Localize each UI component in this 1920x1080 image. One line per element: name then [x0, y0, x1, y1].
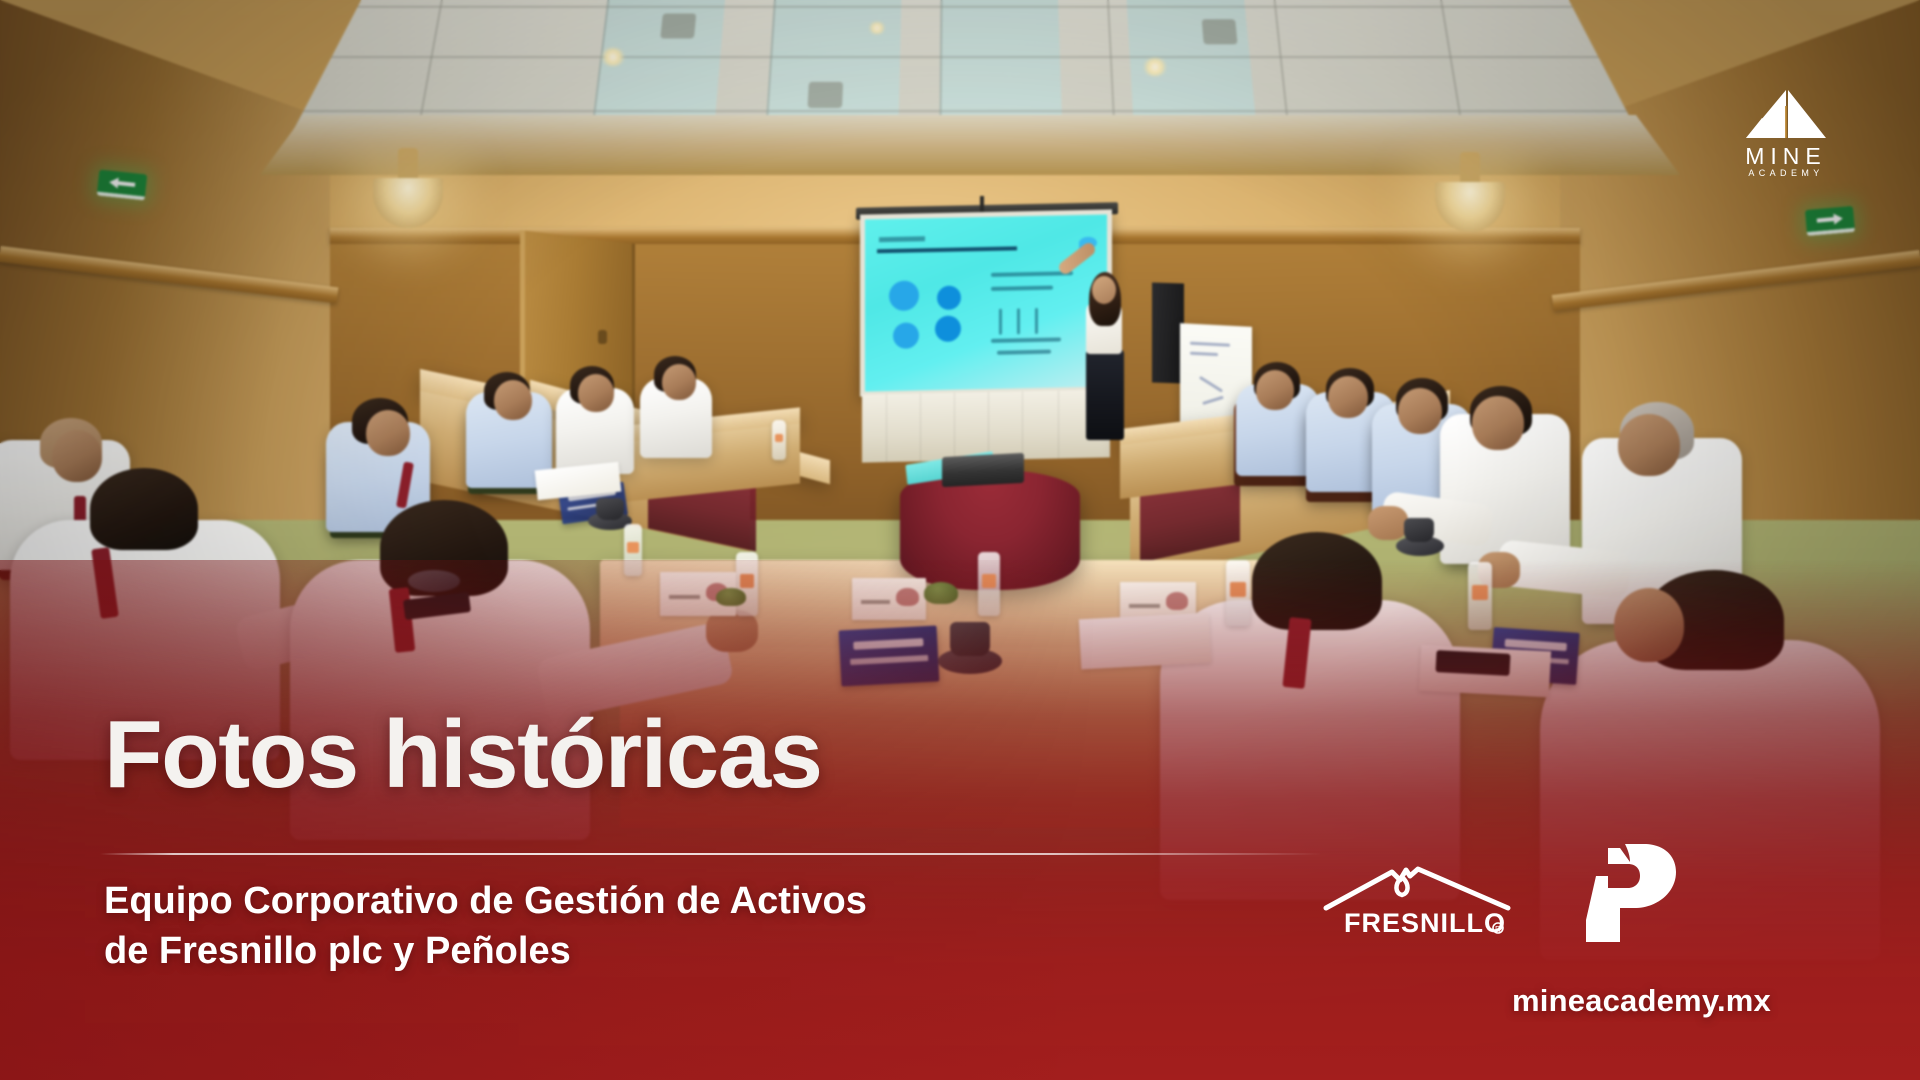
- projection-screen: [860, 209, 1112, 396]
- exit-sign-right: [1805, 206, 1855, 236]
- red-left-shade: [0, 560, 1100, 1080]
- presenter-head: [1092, 276, 1116, 304]
- door-handle: [598, 330, 607, 344]
- exit-arrow-left-icon: [107, 175, 138, 191]
- downlight-right: [1142, 58, 1168, 76]
- coffee-cup-right: [1404, 518, 1434, 542]
- page-subtitle: Equipo Corporativo de Gestión de Activos…: [104, 876, 867, 976]
- mine-academy-logo: MINE ACADEMY: [1722, 88, 1850, 184]
- website-url: mineacademy.mx: [1512, 983, 1771, 1019]
- mine-academy-wordmark: MINE: [1722, 143, 1850, 170]
- penoles-p-icon: [1578, 838, 1684, 950]
- poster-canvas: MINE ACADEMY Fotos históricas Equipo Cor…: [0, 0, 1920, 1080]
- exit-arrow-right-icon: [1814, 211, 1845, 227]
- presenter-legs: [1086, 348, 1124, 440]
- fresnillo-mountain-icon: FRESNILLO R: [1322, 862, 1512, 940]
- page-title: Fotos históricas: [104, 707, 821, 803]
- title-divider: [100, 853, 1322, 855]
- penoles-logo: [1578, 838, 1684, 950]
- fresnillo-wordmark: FRESNILLO: [1344, 908, 1506, 938]
- coffee-cup-left: [596, 498, 624, 520]
- exit-sign-left: [97, 170, 147, 201]
- subtitle-line-1: Equipo Corporativo de Gestión de Activos: [104, 876, 867, 926]
- mine-academy-subtext: ACADEMY: [1722, 168, 1850, 178]
- svg-text:R: R: [1495, 925, 1501, 934]
- subtitle-line-2: de Fresnillo plc y Peñoles: [104, 926, 867, 976]
- downlight-left: [600, 48, 626, 66]
- video-projector: [942, 453, 1024, 487]
- presentation-slide: [865, 214, 1107, 391]
- mountain-icon: [1722, 88, 1850, 144]
- fresnillo-logo: FRESNILLO R: [1322, 862, 1512, 940]
- downlight-center: [868, 22, 886, 34]
- water-bottle-6: [772, 420, 786, 460]
